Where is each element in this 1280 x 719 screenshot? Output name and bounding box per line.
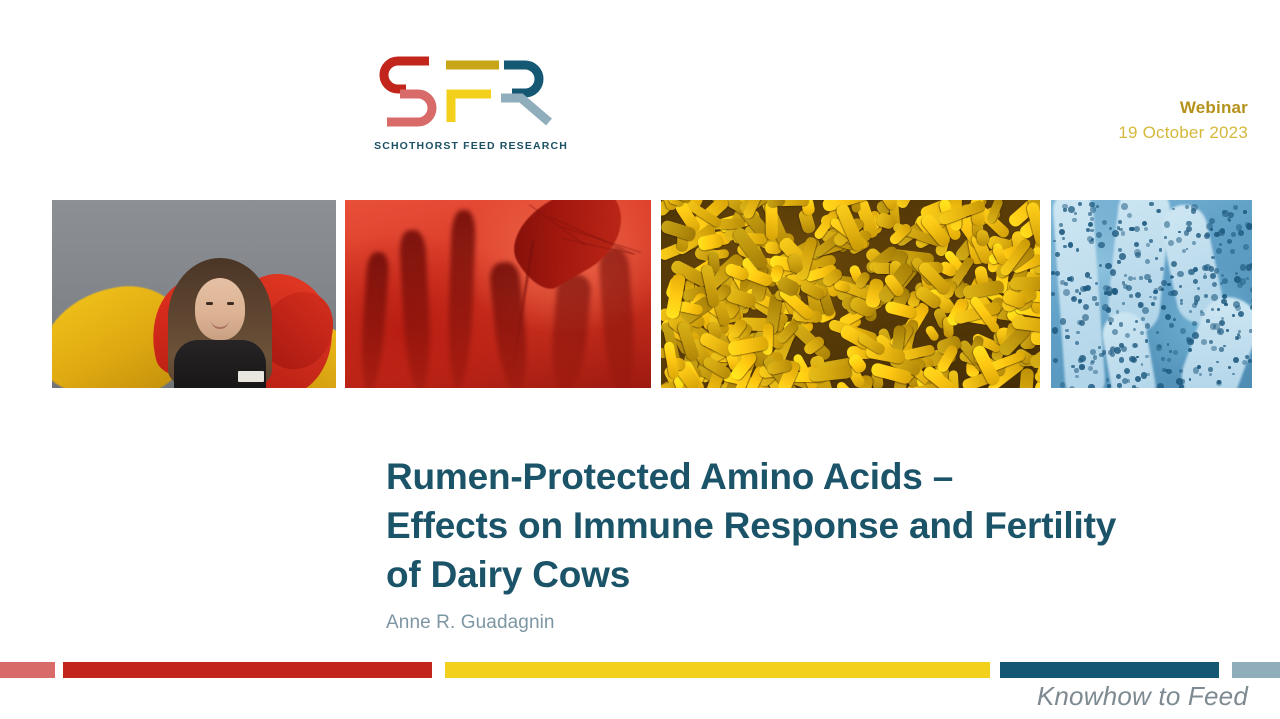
event-date-label: 19 October 2023 — [1118, 123, 1248, 144]
bar-segment-light-red — [0, 662, 55, 678]
sfr-monogram-icon — [373, 52, 569, 132]
wheat-photo — [345, 200, 651, 388]
footer-color-bar — [0, 662, 1280, 678]
author-name: Anne R. Guadagnin — [386, 612, 1216, 634]
bar-segment-blue-grey — [1232, 662, 1280, 678]
logo-wordmark: SCHOTHORST FEED RESEARCH — [373, 140, 569, 152]
presenter-photo — [52, 200, 336, 388]
histology-photo — [1051, 200, 1252, 388]
logo-block: SCHOTHORST FEED RESEARCH — [373, 52, 569, 157]
page-title: Rumen-Protected Amino Acids – Effects on… — [386, 452, 1216, 600]
footer-tagline: Knowhow to Feed — [1037, 681, 1248, 712]
image-strip — [0, 200, 1280, 388]
event-header: Webinar 19 October 2023 — [1118, 98, 1248, 143]
bar-segment-teal — [1000, 662, 1219, 678]
bar-segment-red — [63, 662, 432, 678]
bar-segment-yellow — [445, 662, 990, 678]
title-block: Rumen-Protected Amino Acids – Effects on… — [386, 452, 1216, 634]
feed-pellets-photo — [661, 200, 1040, 388]
event-type-label: Webinar — [1118, 98, 1248, 119]
